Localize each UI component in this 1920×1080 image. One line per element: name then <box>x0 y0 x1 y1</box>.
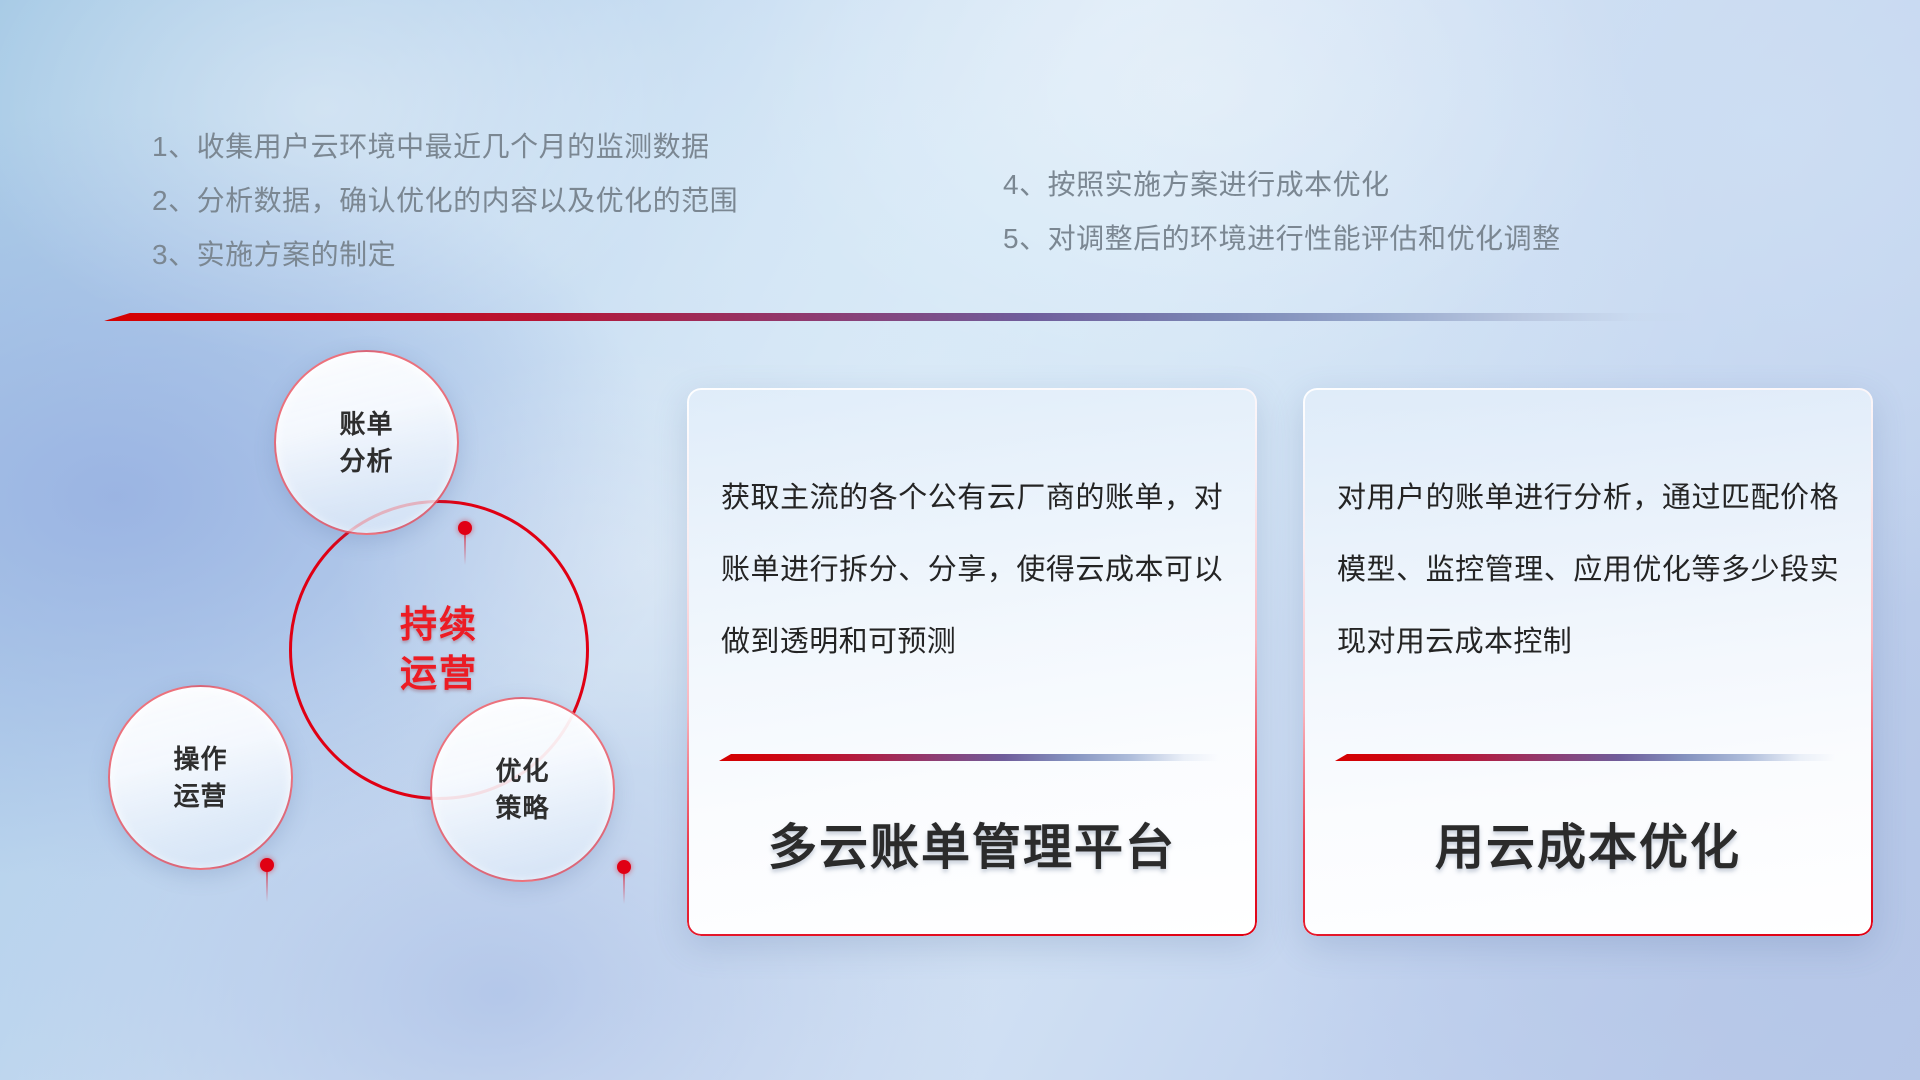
center-label-line-1: 持续 <box>400 601 478 650</box>
card-1-title: 多云账单管理平台 <box>687 808 1257 879</box>
step-item-3: 3、实施方案的制定 <box>152 228 738 282</box>
step-item-5: 5、对调整后的环境进行性能评估和优化调整 <box>1003 212 1561 266</box>
bubble-right-line-1: 优化 <box>495 753 549 790</box>
diagram-node-dot-left <box>260 858 274 872</box>
bubble-right-line-2: 策略 <box>495 790 549 827</box>
step-item-4: 4、按照实施方案进行成本优化 <box>1003 158 1561 212</box>
diagram-node-tail-left <box>266 872 268 902</box>
section-divider <box>104 313 1694 321</box>
step-item-2: 2、分析数据，确认优化的内容以及优化的范围 <box>152 174 738 228</box>
card-2-body-text: 对用户的账单进行分析，通过匹配价格模型、监控管理、应用优化等多少段实现对用云成本… <box>1303 462 1873 678</box>
bubble-left-line-2: 运营 <box>173 778 227 815</box>
diagram-bubble-operation[interactable]: 操作 运营 <box>108 685 293 870</box>
card-cloud-cost-optimization[interactable]: 对用户的账单进行分析，通过匹配价格模型、监控管理、应用优化等多少段实现对用云成本… <box>1303 388 1873 936</box>
diagram-bubble-optimization-strategy[interactable]: 优化 策略 <box>430 697 615 882</box>
diagram-node-dot-top <box>458 521 472 535</box>
diagram-node-tail-right <box>623 874 625 904</box>
card-1-divider <box>719 754 1219 761</box>
diagram-node-dot-right <box>617 860 631 874</box>
bubble-top-line-1: 账单 <box>339 406 393 443</box>
slide-canvas: 1、收集用户云环境中最近几个月的监测数据 2、分析数据，确认优化的内容以及优化的… <box>0 0 1920 1080</box>
bubble-top-line-2: 分析 <box>339 443 393 480</box>
diagram-node-tail-top <box>464 535 466 565</box>
continuous-operation-diagram: 持续 运营 账单 分析 操作 运营 优化 策略 <box>100 345 660 955</box>
step-item-1: 1、收集用户云环境中最近几个月的监测数据 <box>152 120 738 174</box>
card-2-title: 用云成本优化 <box>1303 808 1873 879</box>
card-multi-cloud-bill-platform[interactable]: 获取主流的各个公有云厂商的账单，对账单进行拆分、分享，使得云成本可以做到透明和可… <box>687 388 1257 936</box>
diagram-bubble-bill-analysis[interactable]: 账单 分析 <box>274 350 459 535</box>
bubble-left-line-1: 操作 <box>173 741 227 778</box>
steps-left-column: 1、收集用户云环境中最近几个月的监测数据 2、分析数据，确认优化的内容以及优化的… <box>152 120 738 282</box>
center-label-line-2: 运营 <box>400 650 478 699</box>
card-2-divider <box>1335 754 1835 761</box>
steps-right-column: 4、按照实施方案进行成本优化 5、对调整后的环境进行性能评估和优化调整 <box>1003 158 1561 266</box>
card-1-body-text: 获取主流的各个公有云厂商的账单，对账单进行拆分、分享，使得云成本可以做到透明和可… <box>687 462 1257 678</box>
